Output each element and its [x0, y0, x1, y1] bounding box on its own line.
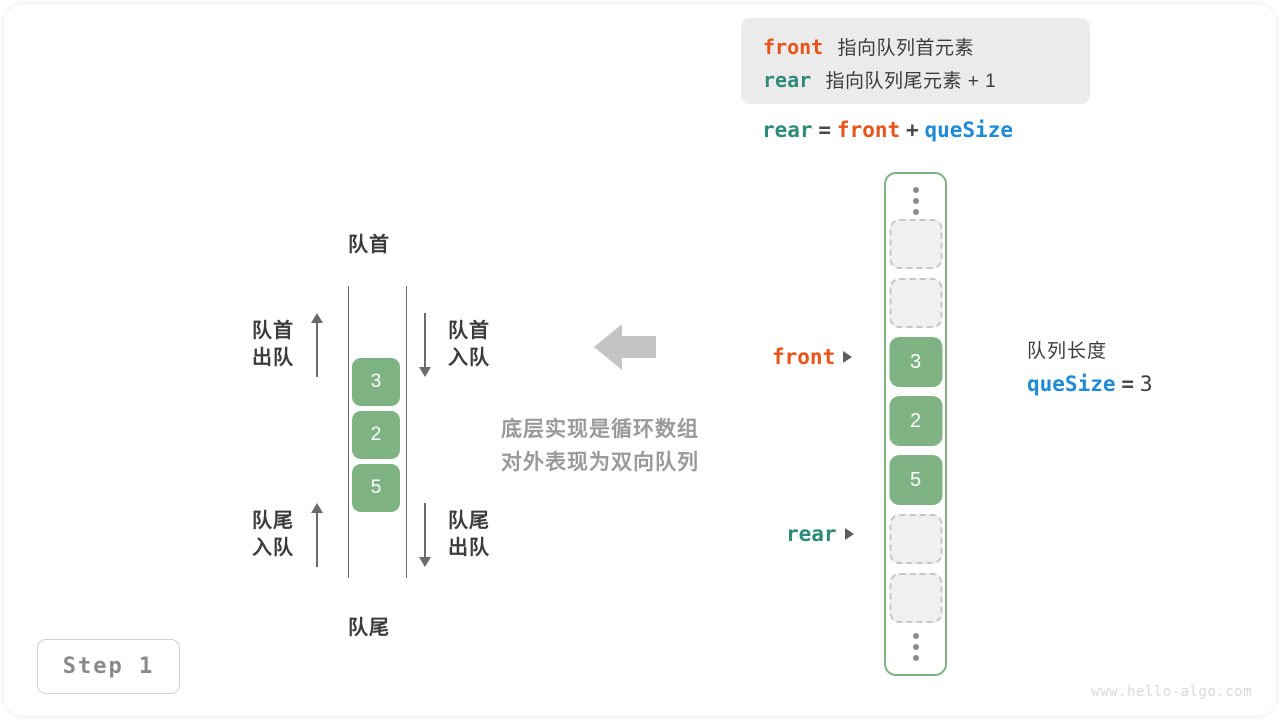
array-cell-0 [889, 219, 942, 269]
array-cell-2: 3 [889, 337, 942, 387]
arrow-right-icon [845, 528, 854, 540]
tail-enqueue-annotation: 队尾 入队 [252, 503, 324, 567]
vertical-ellipsis-icon-top [913, 187, 919, 215]
deque-tail-label: 队尾 [348, 611, 390, 640]
head-dequeue-annotation: 队首 出队 [252, 313, 324, 377]
head-enqueue-label: 队首 入队 [448, 318, 490, 372]
deque-rail-right [406, 286, 407, 578]
tail-dequeue-label: 队尾 出队 [448, 508, 490, 562]
arrow-up-icon [310, 503, 324, 567]
array-cell-4: 5 [889, 455, 942, 505]
formula-equals: = [818, 118, 831, 142]
array-cell-5 [889, 514, 942, 564]
legend-desc-rear: 指向队列尾元素 + 1 [825, 71, 996, 92]
deque-cell-0: 3 [352, 358, 400, 406]
rear-pointer-label: rear [786, 522, 837, 546]
array-cell-6 [889, 573, 942, 623]
head-dequeue-label: 队首 出队 [252, 318, 294, 372]
queue-size-note: 队列长度 queSize = 3 [1027, 336, 1153, 397]
deque-cell-2: 5 [352, 464, 400, 512]
diagram-canvas: front 指向队列首元素 rear 指向队列尾元素 + 1 rear = fr… [0, 0, 1280, 720]
formula-quesize: queSize [924, 118, 1013, 142]
vertical-ellipsis-icon-bottom [913, 633, 919, 661]
arrow-right-icon [843, 351, 852, 363]
head-enqueue-annotation: 队首 入队 [418, 313, 490, 377]
front-pointer-label: front [772, 345, 835, 369]
deque-rail-left [348, 286, 349, 578]
tail-enqueue-label: 队尾 入队 [252, 508, 294, 562]
array-cell-1 [889, 278, 942, 328]
legend-desc-front: 指向队列首元素 [838, 38, 975, 59]
rear-pointer: rear [786, 522, 854, 546]
arrow-left-icon [594, 322, 656, 372]
implementation-note-line1: 底层实现是循环数组 [501, 413, 699, 446]
deque-cell-1: 2 [352, 411, 400, 459]
deque-head-label: 队首 [348, 228, 390, 257]
quesize-equals: = [1121, 372, 1134, 396]
step-badge: Step 1 [37, 639, 180, 694]
front-pointer: front [772, 345, 852, 369]
queue-size-title: 队列长度 [1027, 336, 1153, 363]
legend-row-front: front 指向队列首元素 [763, 31, 1090, 64]
watermark: www.hello-algo.com [1091, 684, 1252, 700]
arrow-down-icon [418, 503, 432, 567]
pointer-legend-box: front 指向队列首元素 rear 指向队列尾元素 + 1 [741, 18, 1090, 104]
queue-size-expression: queSize = 3 [1027, 372, 1153, 397]
rear-formula: rear = front + queSize [762, 118, 1013, 143]
legend-keyword-front: front [763, 35, 823, 59]
formula-rear: rear [762, 118, 813, 142]
arrow-up-icon [310, 313, 324, 377]
implementation-note-line2: 对外表现为双向队列 [501, 446, 699, 479]
formula-front: front [837, 118, 900, 142]
tail-dequeue-annotation: 队尾 出队 [418, 503, 490, 567]
arrow-down-icon [418, 313, 432, 377]
circular-array-container: 3 2 5 [884, 172, 947, 676]
array-cell-3: 2 [889, 396, 942, 446]
legend-keyword-rear: rear [763, 68, 811, 92]
legend-row-rear: rear 指向队列尾元素 + 1 [763, 64, 1090, 97]
quesize-var: queSize [1027, 372, 1116, 396]
formula-plus: + [906, 118, 919, 142]
implementation-note: 底层实现是循环数组 对外表现为双向队列 [501, 413, 699, 479]
quesize-value: 3 [1140, 372, 1153, 396]
